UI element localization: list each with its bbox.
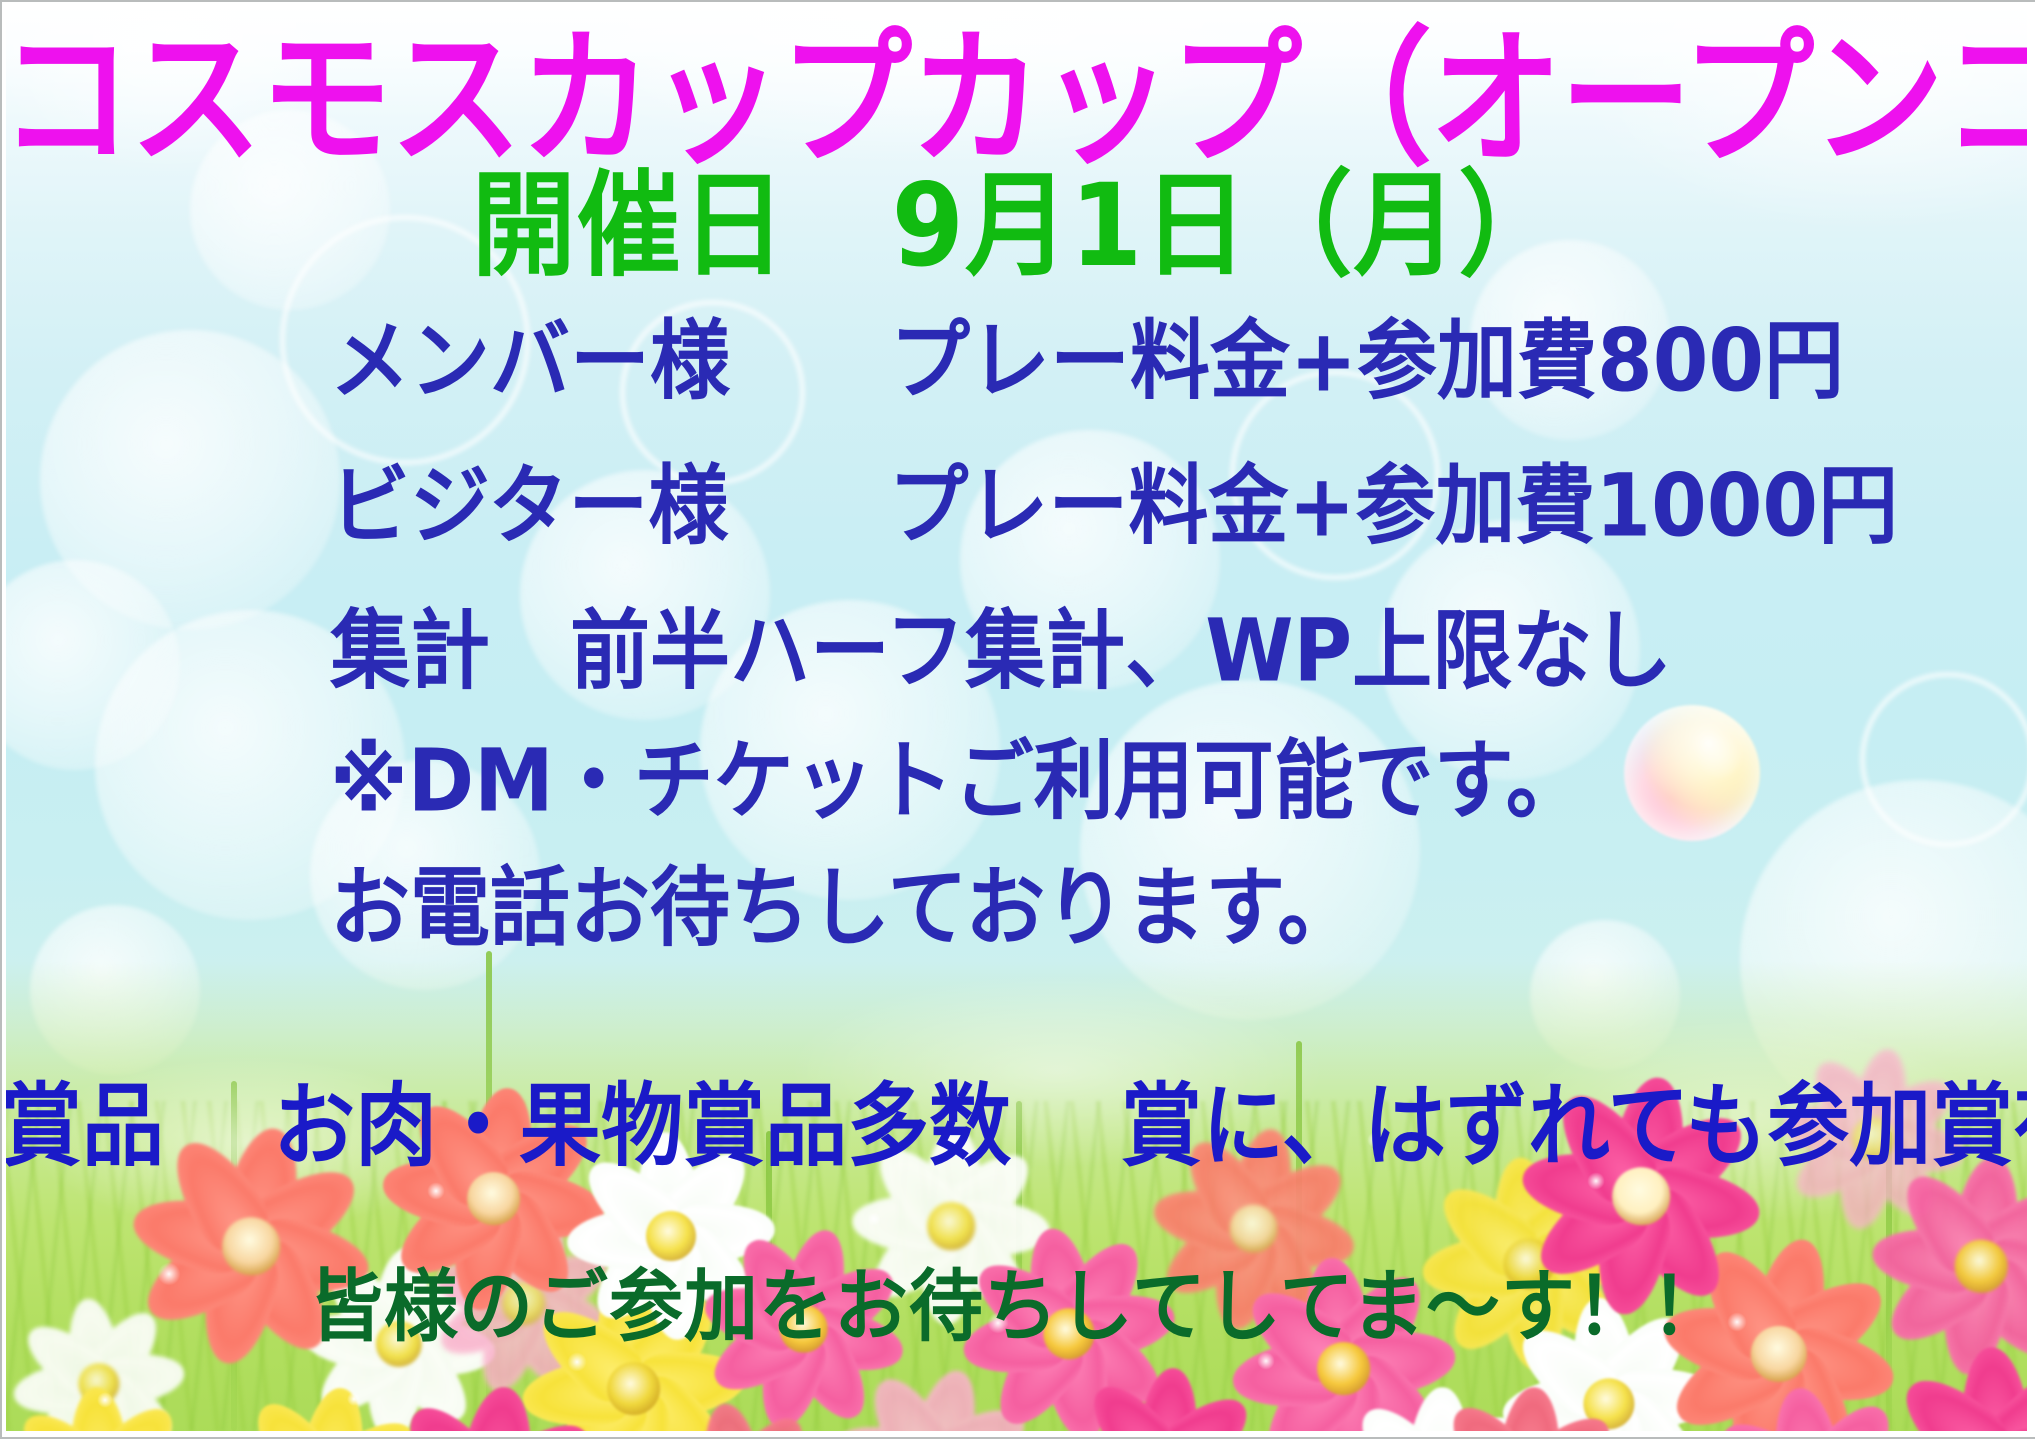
flower-petals	[1878, 1343, 2027, 1431]
detail-line-contact: お電話お待ちしております。	[330, 865, 1357, 951]
frame-hairline-top	[0, 0, 2035, 2]
sparkle-glint	[566, 1351, 588, 1373]
detail-line-payment: ※DM・チケットご利用可能です。	[330, 738, 1586, 824]
prize-text: お肉・果物賞品多数	[273, 1074, 1011, 1179]
cosmos-flower	[1878, 1343, 2027, 1431]
prize-label: 賞品	[0, 1074, 164, 1179]
sparkle-glint	[1256, 1351, 1276, 1371]
poster-canvas: コスモスカップカップ（オープンコンペ） 開催日 9月1日（月） メンバー様 プレ…	[0, 0, 2035, 1439]
event-date: 開催日 9月1日（月）	[0, 168, 2035, 282]
prize-row: 賞品 お肉・果物賞品多数 賞に、はずれても参加賞有	[0, 1082, 2035, 1172]
frame-bottom	[0, 1431, 2035, 1439]
sparkle-glint	[866, 1211, 882, 1227]
iridescent-bubble	[1624, 705, 1760, 841]
prize-note: 賞に、はずれても参加賞有	[1120, 1074, 2035, 1179]
sparkle-glint	[346, 1391, 362, 1407]
page-title: コスモスカップカップ（オープンコンペ）	[0, 26, 2035, 174]
detail-line-scoring: 集計 前半ハーフ集計、WP上限なし	[330, 608, 1672, 694]
sparkle-glint	[426, 1181, 446, 1201]
sparkle-glint	[96, 1391, 114, 1409]
detail-line-member: メンバー様 プレー料金+参加費800円	[330, 318, 1844, 404]
detail-line-visitor: ビジター様 プレー料金+参加費1000円	[330, 463, 1898, 549]
closing-message: 皆様のご参加をお待ちしてしてま〜す！！	[0, 1268, 2035, 1346]
